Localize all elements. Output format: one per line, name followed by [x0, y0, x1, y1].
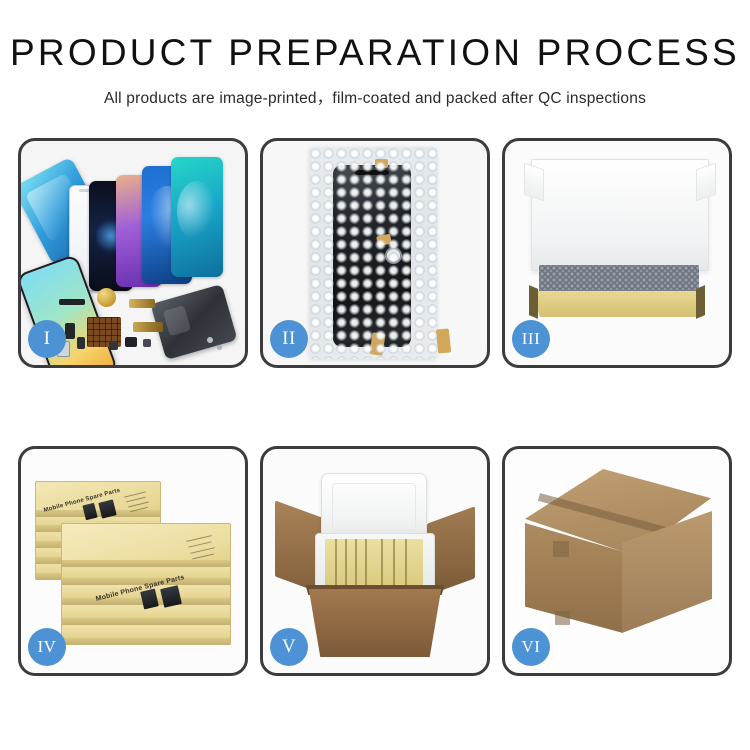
stack-box-front-top: Mobile Phone Spare Parts: [61, 523, 231, 567]
wrapped-screen-image: [333, 165, 411, 347]
foam-box-lid-image: [321, 473, 427, 541]
lid-artwork-chip-4: [160, 585, 182, 608]
step-badge-4: IV: [28, 628, 66, 666]
earpiece-part-image: [59, 299, 85, 305]
page-title: PRODUCT PREPARATION PROCESS: [0, 34, 750, 73]
small-part-4-image: [109, 341, 118, 350]
inner-yellow-boxes-image: [325, 539, 423, 587]
small-part-1-image: [65, 323, 75, 339]
process-step-panel-1[interactable]: I: [18, 138, 248, 368]
small-part-2-image: [77, 337, 85, 349]
carton-tape-lower-image: [555, 611, 570, 625]
flex-cable-b-image: [133, 322, 163, 332]
page-header: PRODUCT PREPARATION PROCESS All products…: [0, 0, 750, 108]
tape-piece-3-image: [370, 332, 386, 356]
bubble-film-bag-image: [309, 147, 437, 359]
step-badge-2: II: [270, 320, 308, 358]
step-badge-5: V: [270, 628, 308, 666]
flex-cable-a-image: [129, 299, 155, 308]
white-box-lid-image: [531, 159, 709, 271]
carton-tape-upper-image: [553, 541, 569, 557]
phone-back-housing-image: [150, 284, 237, 360]
process-step-panel-6[interactable]: VI: [502, 446, 732, 676]
carton-front-image: [303, 589, 447, 657]
process-step-panel-5[interactable]: V: [260, 446, 490, 676]
kraft-box-front-image: [531, 291, 707, 317]
step-badge-3: III: [512, 320, 550, 358]
stack-box-back-top: Mobile Phone Spare Parts: [35, 481, 161, 517]
process-step-panel-4[interactable]: Mobile Phone Spare Parts Mob: [18, 446, 248, 676]
box-stack-image: Mobile Phone Spare Parts Mob: [29, 465, 237, 661]
speaker-part-image: [97, 288, 116, 307]
connector-image: [385, 247, 402, 264]
box-lip-left-image: [529, 285, 538, 319]
process-step-grid: I II III: [18, 138, 732, 676]
process-step-panel-2[interactable]: II: [260, 138, 490, 368]
screw-2-image: [217, 345, 222, 350]
tape-piece-4-image: [436, 328, 451, 353]
lid-artwork-chip-1: [82, 503, 97, 520]
step-badge-6: VI: [512, 628, 550, 666]
small-part-3-image: [125, 337, 137, 347]
phone-teal-image: [171, 157, 223, 277]
step-badge-1: I: [28, 320, 66, 358]
tape-piece-1-image: [375, 159, 388, 168]
tape-piece-2-image: [376, 234, 392, 247]
stack-box-front-5: [61, 623, 231, 645]
screw-1-image: [207, 337, 213, 343]
process-step-panel-3[interactable]: III: [502, 138, 732, 368]
small-part-5-image: [143, 339, 151, 347]
box-lip-right-image: [696, 285, 705, 319]
page-subtitle: All products are image-printed，film-coat…: [0, 86, 750, 108]
